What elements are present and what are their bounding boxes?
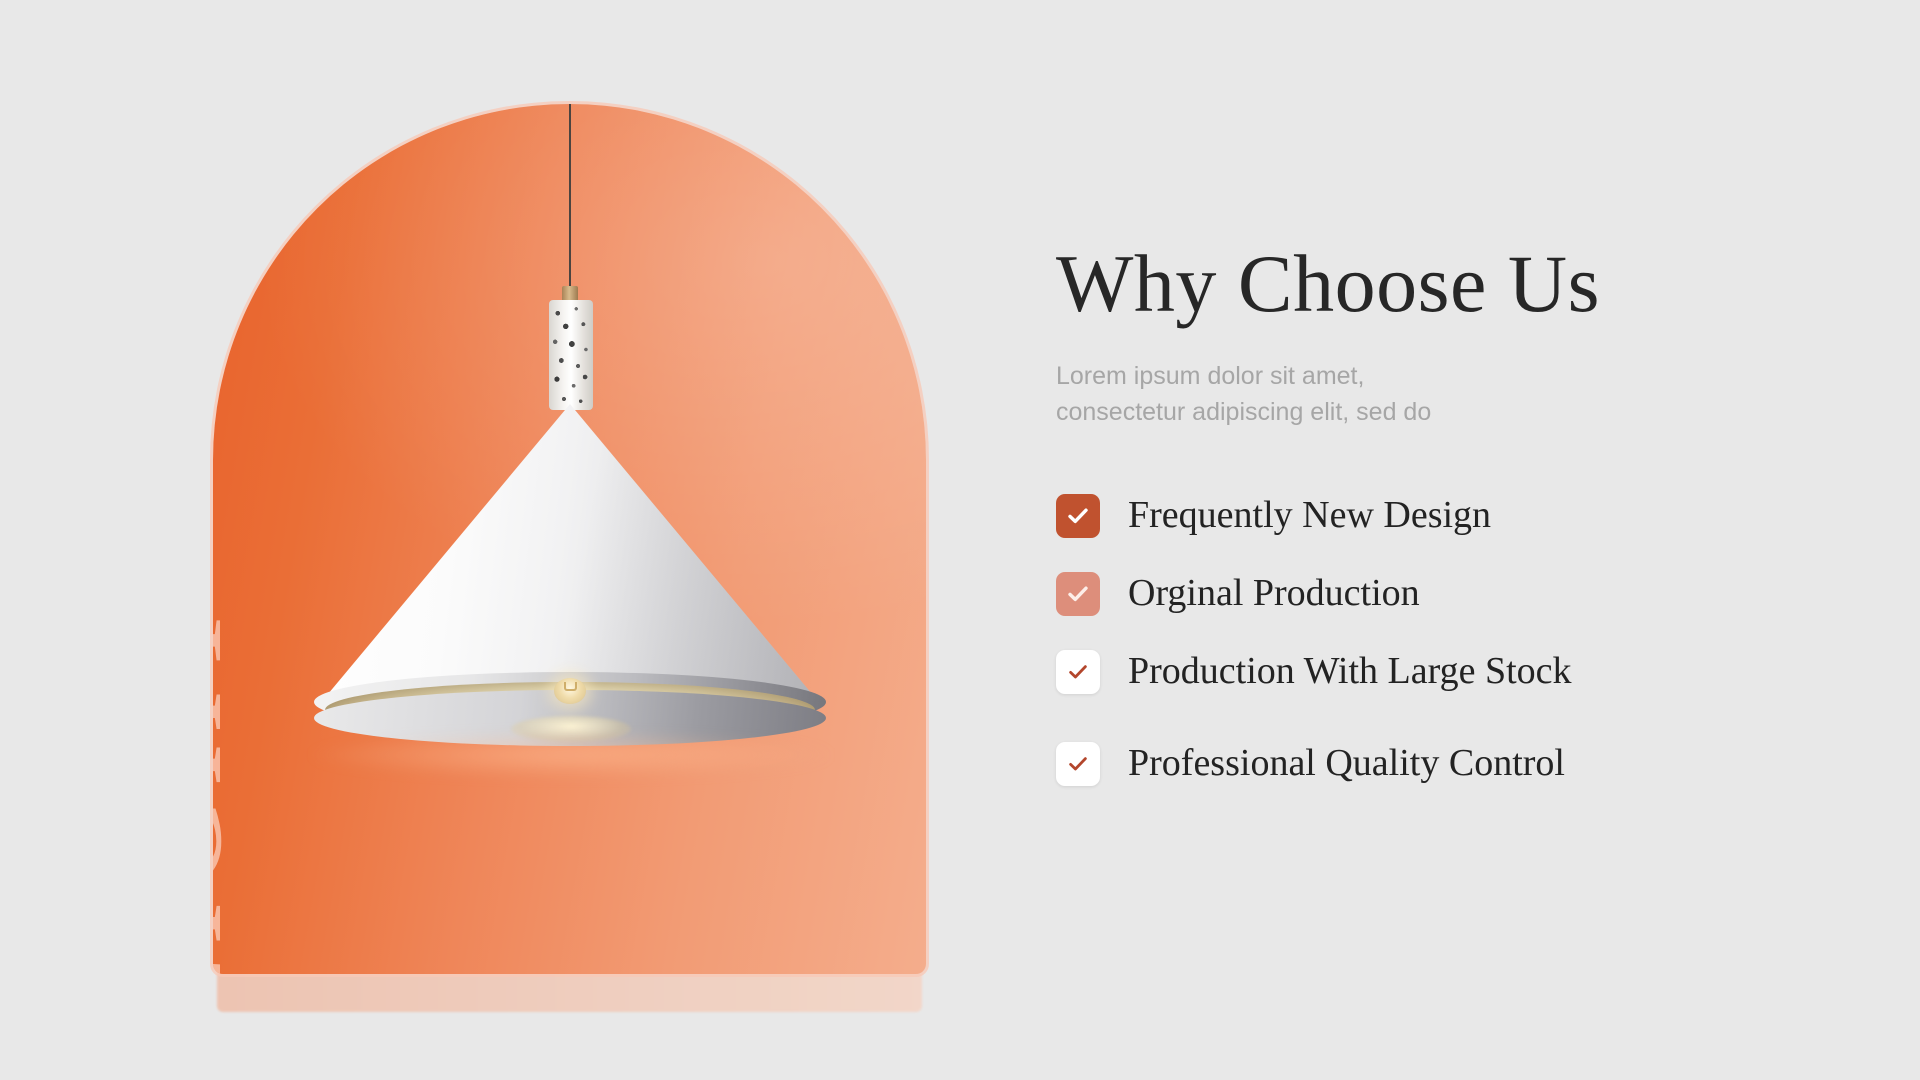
feature-label-1: Frequently New Design (1128, 495, 1491, 537)
feature-item-3[interactable]: Production With Large Stock (1056, 650, 1816, 694)
lamp-filament (564, 682, 577, 691)
check-icon (1066, 752, 1090, 776)
lamp-terrazzo-body (549, 300, 593, 410)
checkbox-3[interactable] (1056, 650, 1100, 694)
lamp-shade-shadow (318, 404, 822, 706)
content-column: Why Choose Us Lorem ipsum dolor sit amet… (1056, 243, 1816, 786)
product-visual-panel: LIGHT (213, 104, 926, 1012)
feature-item-4[interactable]: Professional Quality Control (1056, 742, 1816, 786)
check-icon (1065, 581, 1091, 607)
checkbox-4[interactable] (1056, 742, 1100, 786)
feature-list: Frequently New Design Orginal Production… (1056, 494, 1816, 786)
checkbox-2[interactable] (1056, 572, 1100, 616)
subtitle-line-1: Lorem ipsum dolor sit amet, (1056, 359, 1816, 395)
feature-label-2: Orginal Production (1128, 573, 1420, 615)
feature-item-2[interactable]: Orginal Production (1056, 572, 1816, 616)
pendant-lamp-icon (213, 104, 926, 974)
feature-item-1[interactable]: Frequently New Design (1056, 494, 1816, 538)
lamp-cord (569, 104, 571, 289)
subtitle-line-2: consectetur adipiscing elit, sed do (1056, 395, 1816, 431)
arch-background: LIGHT (213, 104, 926, 974)
checkbox-1[interactable] (1056, 494, 1100, 538)
check-icon (1066, 660, 1090, 684)
slide-root: LIGHT Why Choose Us Lorem ipsum dolor si… (0, 0, 1920, 1080)
lamp-light-glow (309, 732, 833, 778)
feature-label-4: Professional Quality Control (1128, 743, 1565, 785)
feature-label-3: Production With Large Stock (1128, 651, 1572, 693)
page-subtitle: Lorem ipsum dolor sit amet, consectetur … (1056, 359, 1816, 430)
page-title: Why Choose Us (1056, 243, 1816, 325)
check-icon (1065, 503, 1091, 529)
